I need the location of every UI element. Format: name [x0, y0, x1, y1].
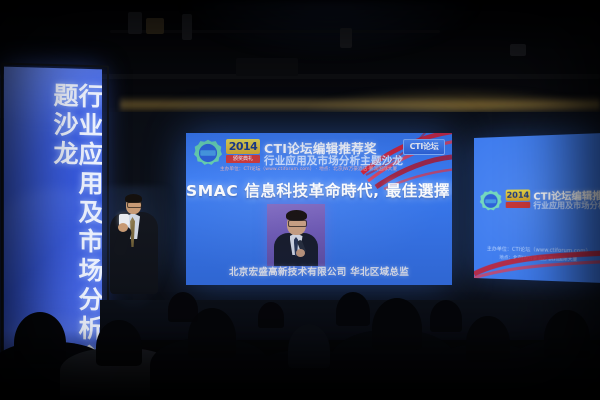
stage-light-rig-5 [510, 44, 526, 56]
main-projection-screen: 2014 颁奖典礼 CTI论坛编辑推荐奖 行业应用及市场分析主题沙龙 主办单位：… [186, 133, 452, 285]
stage-light-rig-2 [146, 18, 164, 34]
stage-light-rig-1 [128, 12, 142, 34]
secondary-projection-screen: 2014 CTI论坛编辑推荐奖 行业应用及市场分析主题沙龙 主办单位：CTI论坛… [474, 133, 600, 283]
bottom-shadow-fade [0, 330, 600, 400]
award-year-sub-secondary [506, 202, 531, 208]
warm-light-strip [120, 96, 600, 112]
speaker-hand [118, 223, 128, 232]
projector-housing [236, 58, 298, 76]
conference-photo: 行业应用及市场分析主题沙龙 2014 颁奖典礼 CTI论坛编辑推荐奖 行业应用及… [0, 0, 600, 400]
stage-light-rig-4 [340, 28, 352, 48]
presenter-with-microphone [104, 196, 162, 308]
award-year-secondary: 2014 [506, 189, 531, 200]
screen-vignette [186, 133, 452, 285]
red-ribbon-graphic-secondary [474, 244, 600, 283]
award-seal-icon-secondary [480, 190, 502, 212]
stage-light-rig-3 [182, 14, 192, 40]
speaker-glasses-icon [127, 202, 142, 208]
award-subtitle-secondary: 行业应用及市场分析主题沙龙 [533, 199, 600, 211]
